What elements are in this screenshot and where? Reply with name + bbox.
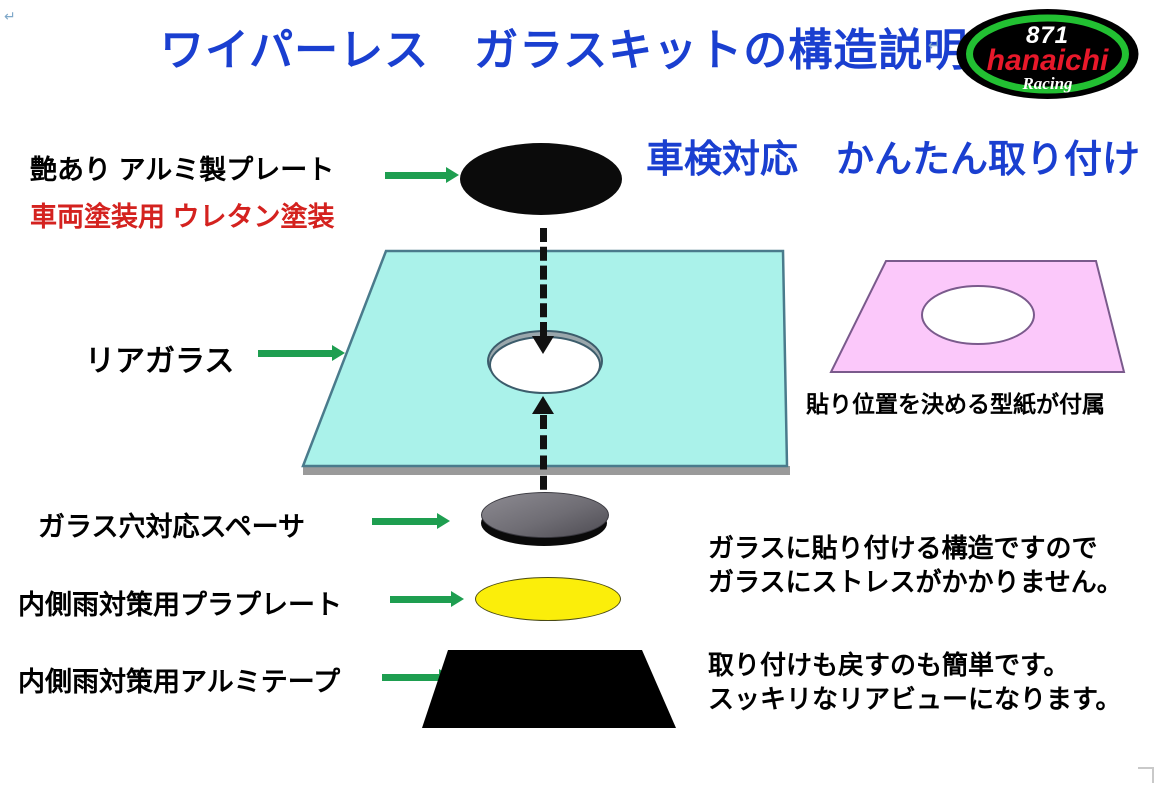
title-paragraph-mark-icon: ↵ xyxy=(928,36,941,54)
part-plastic-plate xyxy=(475,577,621,621)
motion-arrow-down-shaft xyxy=(540,228,547,336)
logo-brand: hanaichi xyxy=(955,44,1140,78)
logo-tagline: Racing xyxy=(955,74,1140,94)
label-aluminum-tape: 内側雨対策用アルミテープ xyxy=(18,660,340,699)
label-rear-glass: リアガラス xyxy=(85,336,234,380)
label-aluminum-plate: 艶あり アルミ製プレート xyxy=(30,148,334,187)
aluminum-tape-graphic xyxy=(420,648,680,730)
part-aluminum-plate xyxy=(460,143,622,215)
note-paragraph-2: 取り付けも戻すのも簡単です。 スッキリなリアビューになります。 xyxy=(708,648,1121,716)
crop-corner-mark xyxy=(1138,767,1154,783)
brand-logo: 871 hanaichi Racing xyxy=(955,8,1140,100)
part-spacer xyxy=(481,492,609,538)
note-line: ガラスに貼り付ける構造ですので xyxy=(708,531,1123,565)
pointer-arrow-icon-spacer xyxy=(372,518,438,525)
headline-text: 車検対応 かんたん取り付け xyxy=(646,128,1140,183)
pointer-arrow-icon-plate xyxy=(385,172,447,179)
motion-arrow-down-head-icon xyxy=(532,336,554,354)
page-title: ワイパーレス ガラスキットの構造説明 xyxy=(160,14,950,78)
note-line: 取り付けも戻すのも簡単です。 xyxy=(708,648,1121,682)
note-line: ガラスにストレスがかかりません。 xyxy=(708,565,1123,599)
part-aluminum-tape xyxy=(420,648,680,730)
paragraph-mark-icon: ↵ xyxy=(4,8,16,25)
pointer-arrow-icon-plastic xyxy=(390,596,452,603)
label-spacer: ガラス穴対応スペーサ xyxy=(38,505,305,544)
motion-arrow-up-head-icon xyxy=(532,396,554,414)
part-paper-template xyxy=(828,258,1128,376)
note-paragraph-1: ガラスに貼り付ける構造ですので ガラスにストレスがかかりません。 xyxy=(708,531,1123,599)
label-urethane-paint: 車両塗装用 ウレタン塗装 xyxy=(30,195,335,234)
caption-paper-template: 貼り位置を決める型紙が付属 xyxy=(806,385,1105,419)
slide-canvas: ↵ ワイパーレス ガラスキットの構造説明 ↵ 871 hanaichi Raci… xyxy=(0,0,1158,787)
note-line: スッキリなリアビューになります。 xyxy=(708,682,1121,716)
label-plastic-plate: 内側雨対策用プラプレート xyxy=(18,583,342,622)
paper-template-graphic xyxy=(828,258,1128,376)
